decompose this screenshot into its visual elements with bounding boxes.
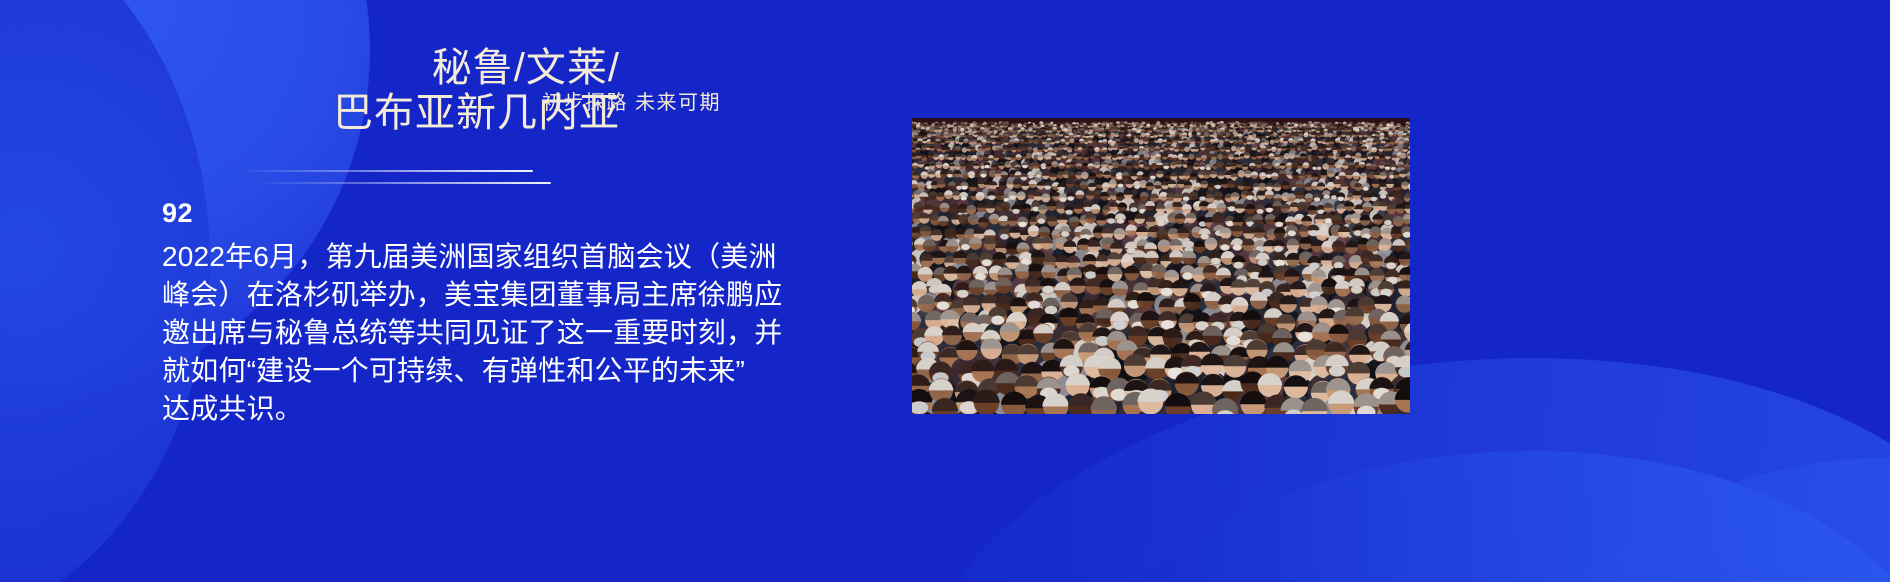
slide-subtitle: 初步探路 未来可期 <box>542 86 721 115</box>
content-column: 秘鲁/文莱/ 巴布亚新几内亚 初步探路 未来可期 92 2022年6月，第九届美… <box>160 0 860 582</box>
decorative-wave-bottom-right-3 <box>1498 411 1890 582</box>
title-underline-2 <box>256 182 551 184</box>
audience-photo <box>912 118 1410 414</box>
decorative-blob-left-edge <box>0 0 120 582</box>
presentation-slide: 秘鲁/文莱/ 巴布亚新几内亚 初步探路 未来可期 92 2022年6月，第九届美… <box>0 0 1890 582</box>
item-number: 92 <box>162 198 193 229</box>
body-paragraph: 2022年6月，第九届美洲国家组织首脑会议（美洲 峰会）在洛杉矶举办，美宝集团董… <box>162 238 852 428</box>
title-underline-1 <box>238 170 533 172</box>
decorative-wave-bottom-right-2 <box>1032 421 1890 582</box>
